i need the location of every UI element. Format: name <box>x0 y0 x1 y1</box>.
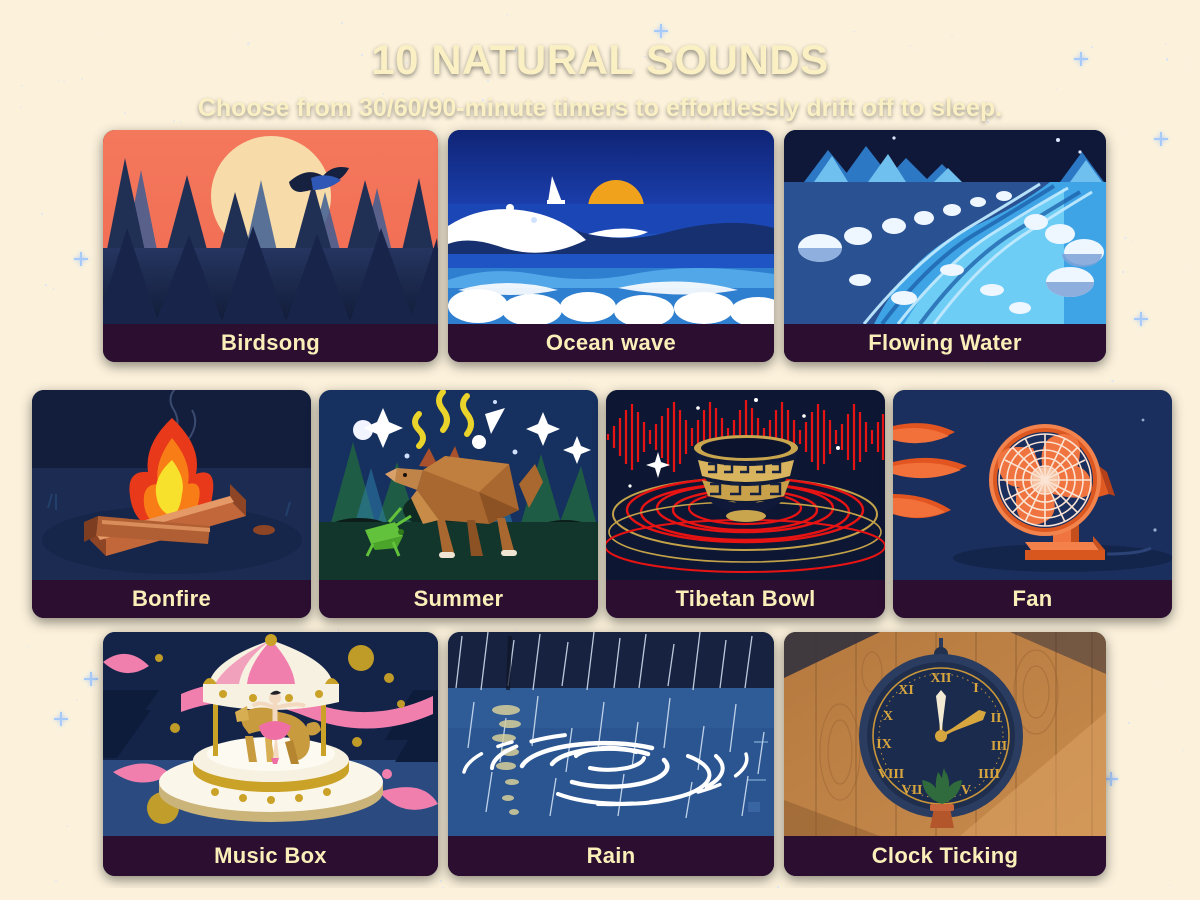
page-title: 10 NATURAL SOUNDS <box>14 36 1186 84</box>
svg-text:X: X <box>883 709 893 724</box>
sound-card-label: Rain <box>448 836 774 876</box>
sound-card-birdsong[interactable]: Birdsong <box>103 130 438 362</box>
sound-card-fan[interactable]: Fan <box>893 390 1172 618</box>
sound-card-row-3: Music Box <box>103 632 1106 876</box>
carousel-ballerina-icon <box>103 632 438 836</box>
sound-card-clock-ticking[interactable]: XIIIII IIIIIIIV VIVIIVIII IXXXI <box>784 632 1106 876</box>
ocean-wave-sunset-icon <box>448 130 774 324</box>
svg-text:III: III <box>991 739 1007 754</box>
rain-puddle-ripples-icon <box>448 632 774 836</box>
sound-card-label: Music Box <box>103 836 438 876</box>
svg-text:V: V <box>961 783 971 798</box>
sound-card-label: Clock Ticking <box>784 836 1106 876</box>
sound-card-label: Ocean wave <box>448 324 774 362</box>
sound-card-bonfire[interactable]: Bonfire <box>32 390 311 618</box>
svg-text:VIII: VIII <box>878 767 904 782</box>
sound-card-row-1: Birdsong <box>103 130 1106 362</box>
sound-card-label: Tibetan Bowl <box>606 580 885 618</box>
svg-text:II: II <box>991 711 1002 726</box>
svg-text:IX: IX <box>876 737 892 752</box>
campfire-logs-flame-icon <box>32 390 311 580</box>
forest-sunset-bird-icon <box>103 130 438 324</box>
singing-bowl-ripples-icon <box>606 390 885 580</box>
sound-card-flowing-water[interactable]: Flowing Water <box>784 130 1106 362</box>
wall-clock-wood-icon: XIIIII IIIIIIIV VIVIIVIII IXXXI <box>784 632 1106 836</box>
sound-card-music-box[interactable]: Music Box <box>103 632 438 876</box>
sound-card-tibetan-bowl[interactable]: Tibetan Bowl <box>606 390 885 618</box>
svg-text:XI: XI <box>898 683 914 698</box>
svg-text:I: I <box>973 681 978 696</box>
sound-card-label: Flowing Water <box>784 324 1106 362</box>
flowing-stream-rocks-icon <box>784 130 1106 324</box>
poster-panel: 10 NATURAL SOUNDS Choose from 30/60/90-m… <box>14 12 1186 888</box>
dog-cricket-night-forest-icon <box>319 390 598 580</box>
sound-card-label: Bonfire <box>32 580 311 618</box>
sound-card-label: Summer <box>319 580 598 618</box>
sound-card-row-2: Bonfire <box>32 390 1172 618</box>
svg-text:VII: VII <box>901 783 922 798</box>
svg-text:XII: XII <box>930 671 951 686</box>
sound-card-ocean-wave[interactable]: Ocean wave <box>448 130 774 362</box>
sound-card-summer[interactable]: Summer <box>319 390 598 618</box>
sound-card-label: Birdsong <box>103 324 438 362</box>
svg-text:IIII: IIII <box>978 767 1000 782</box>
page-subtitle: Choose from 30/60/90-minute timers to ef… <box>14 94 1186 123</box>
sound-card-rain[interactable]: Rain <box>448 632 774 876</box>
sound-card-label: Fan <box>893 580 1172 618</box>
electric-fan-airflow-icon <box>893 390 1172 580</box>
